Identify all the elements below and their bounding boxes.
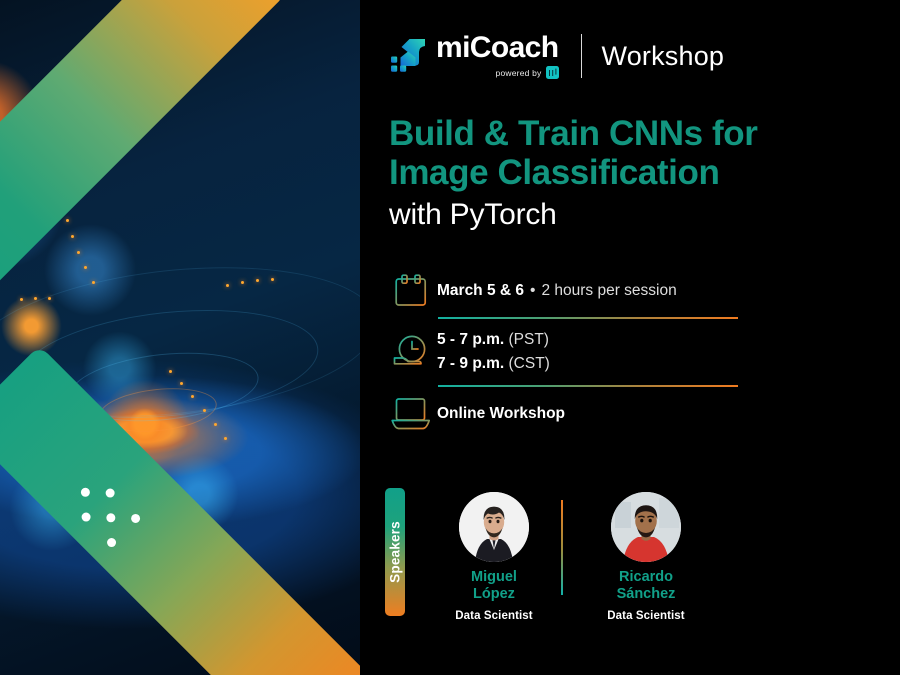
clock-desk-icon xyxy=(385,334,437,370)
title-line-1: Build & Train CNNs for xyxy=(389,115,889,154)
speaker-card[interactable]: Ricardo Sánchez Data Scientist xyxy=(570,488,722,622)
speaker-last-name: Sánchez xyxy=(570,586,722,603)
brand-header: miCoach powered by Workshop xyxy=(388,30,724,82)
artwork-panel xyxy=(0,0,360,675)
iti-badge-icon xyxy=(546,66,559,79)
detail-date-bold: March 5 & 6 xyxy=(437,282,524,299)
speakers-section: Speakers xyxy=(385,488,885,638)
decorative-dot xyxy=(104,487,117,500)
speaker-first-name: Miguel xyxy=(418,569,570,586)
speaker-role: Data Scientist xyxy=(418,610,570,622)
title-line-2: Image Classification xyxy=(389,154,889,193)
speaker-last-name: López xyxy=(418,586,570,603)
decorative-dot xyxy=(80,511,93,524)
trail-dot xyxy=(214,423,217,426)
laptop-icon xyxy=(385,397,437,431)
trail-dot xyxy=(48,297,51,300)
house-arrow-logo-icon xyxy=(388,37,432,75)
trail-dot xyxy=(169,370,172,373)
trail-dot xyxy=(226,284,229,287)
brand-name: miCoach xyxy=(436,33,559,63)
trail-dot xyxy=(241,281,244,284)
detail-time-text: 5 - 7 p.m. (PST) 7 - 9 p.m. (CST) xyxy=(437,328,550,376)
detail-time-line-1: 5 - 7 p.m. (PST) xyxy=(437,328,550,352)
trail-dot xyxy=(271,278,274,281)
calendar-icon xyxy=(385,274,437,308)
trail-dot xyxy=(256,279,259,282)
decorative-dot xyxy=(105,536,118,549)
detail-row-date: March 5 & 6•2 hours per session xyxy=(385,265,885,317)
powered-by-row: powered by xyxy=(436,66,559,79)
speaker-first-name: Ricardo xyxy=(570,569,722,586)
time-cst-zone: (CST) xyxy=(509,355,550,372)
detail-row-time: 5 - 7 p.m. (PST) 7 - 9 p.m. (CST) xyxy=(385,319,885,385)
workshop-label: Workshop xyxy=(602,41,725,72)
trail-dot xyxy=(71,235,74,238)
speaker-name: Ricardo Sánchez xyxy=(570,569,722,603)
decorative-dot xyxy=(104,511,117,524)
content-panel: miCoach powered by Workshop Build & Trai… xyxy=(380,0,900,675)
trail-dot xyxy=(66,219,69,222)
detail-row-location: Online Workshop xyxy=(385,387,885,441)
trail-dot xyxy=(84,266,87,269)
title-block: Build & Train CNNs for Image Classificat… xyxy=(389,115,889,232)
header-divider xyxy=(581,34,582,78)
decorative-dot xyxy=(79,486,92,499)
detail-location-text: Online Workshop xyxy=(437,402,565,426)
trail-dot xyxy=(191,395,194,398)
speaker-card[interactable]: Miguel López Data Scientist xyxy=(418,488,570,622)
speakers-badge: Speakers xyxy=(385,488,405,616)
detail-date-light: 2 hours per session xyxy=(541,282,676,299)
trail-dot xyxy=(20,298,23,301)
speakers-badge-label: Speakers xyxy=(388,521,403,583)
powered-by-label: powered by xyxy=(496,68,542,78)
detail-time-line-2: 7 - 9 p.m. (CST) xyxy=(437,352,550,376)
detail-date-text: March 5 & 6•2 hours per session xyxy=(437,279,677,303)
trail-dot xyxy=(180,382,183,385)
speaker-avatar-ricardo xyxy=(611,492,681,562)
detail-location-bold: Online Workshop xyxy=(437,405,565,422)
time-cst-bold: 7 - 9 p.m. xyxy=(437,355,504,372)
time-pst-zone: (PST) xyxy=(509,331,549,348)
detail-date-separator: • xyxy=(524,282,541,299)
trail-dot xyxy=(34,297,37,300)
title-subtitle: with PyTorch xyxy=(389,198,889,232)
speaker-avatar-miguel xyxy=(459,492,529,562)
event-details: March 5 & 6•2 hours per session xyxy=(385,265,885,441)
trail-dot xyxy=(224,437,227,440)
trail-dot xyxy=(92,281,95,284)
decorative-dot xyxy=(129,512,142,525)
time-pst-bold: 5 - 7 p.m. xyxy=(437,331,504,348)
speaker-role: Data Scientist xyxy=(570,610,722,622)
speaker-name: Miguel López xyxy=(418,569,570,603)
trail-dot xyxy=(203,409,206,412)
trail-dot xyxy=(77,251,80,254)
brand-wordmark: miCoach powered by xyxy=(436,33,559,79)
